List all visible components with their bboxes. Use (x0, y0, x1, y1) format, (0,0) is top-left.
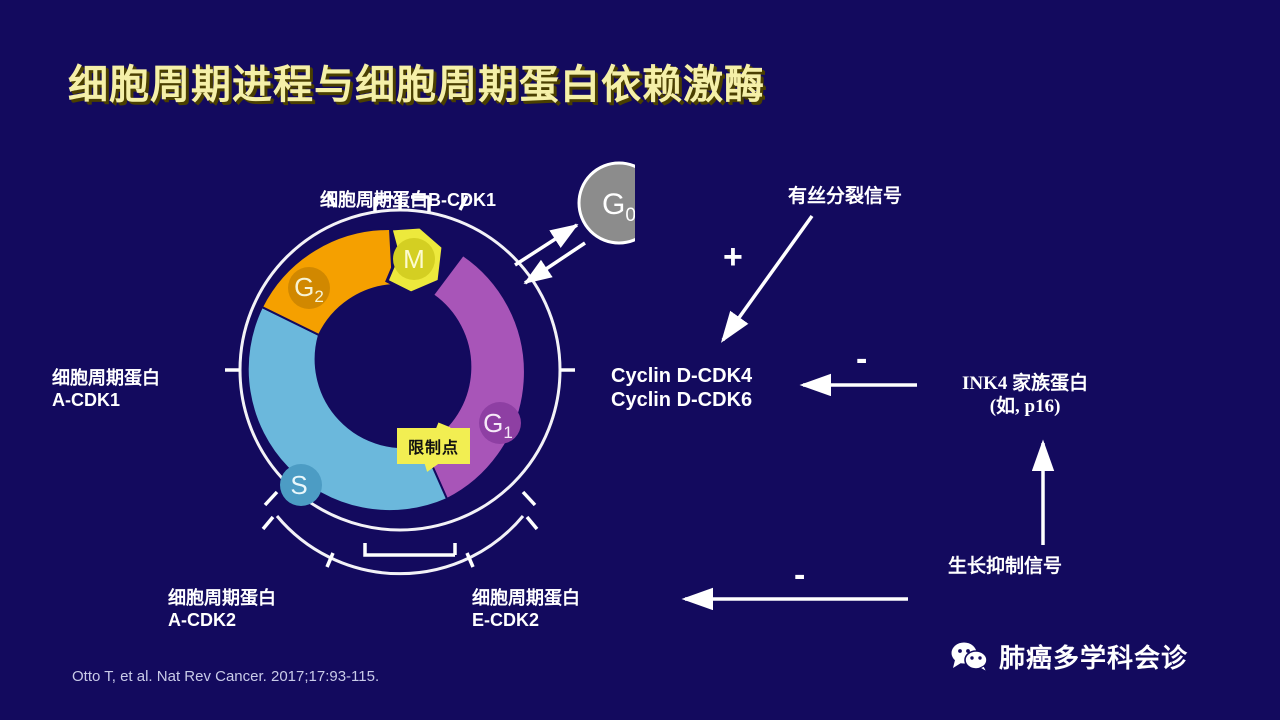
svg-text:S: S (290, 470, 307, 500)
label-cyclin-a-cdk1: 细胞周期蛋白 A-CDK1 (52, 368, 160, 412)
cell-cycle-diagram: G2 S G1 M G0 (215, 155, 635, 595)
wechat-brand: 肺癌多学科会诊 (950, 638, 1188, 675)
minus-sign-ink4: - (856, 340, 867, 379)
label-cyclin-a-cdk2: 细胞周期蛋白 A-CDK2 (168, 588, 276, 632)
label-cyclin-b-cdk1: 细胞周期蛋白B-CDK1 (320, 190, 496, 212)
slide-canvas: 细胞周期进程与细胞周期蛋白依赖激酶 (0, 0, 1280, 720)
page-title: 细胞周期进程与细胞周期蛋白依赖激酶 (68, 52, 765, 110)
wechat-icon (950, 641, 990, 673)
wechat-account-name: 肺癌多学科会诊 (999, 638, 1188, 675)
mitogenic-signal-label: 有丝分裂信号 (788, 185, 902, 208)
plus-sign: + (723, 238, 743, 277)
label-cyclin-e-cdk2: 细胞周期蛋白 E-CDK2 (472, 588, 580, 632)
minus-sign-growth: - (794, 556, 805, 595)
growth-inhibitory-signal-label: 生长抑制信号 (948, 555, 1062, 578)
citation: Otto T, et al. Nat Rev Cancer. 2017;17:9… (72, 668, 379, 685)
cyclin-d-complex-label: Cyclin D-CDK4 Cyclin D-CDK6 (611, 364, 752, 413)
restriction-point-badge: 限制点 (397, 428, 470, 464)
ink4-protein-label: INK4 家族蛋白 (如, p16) (962, 372, 1088, 418)
svg-text:M: M (403, 244, 425, 274)
